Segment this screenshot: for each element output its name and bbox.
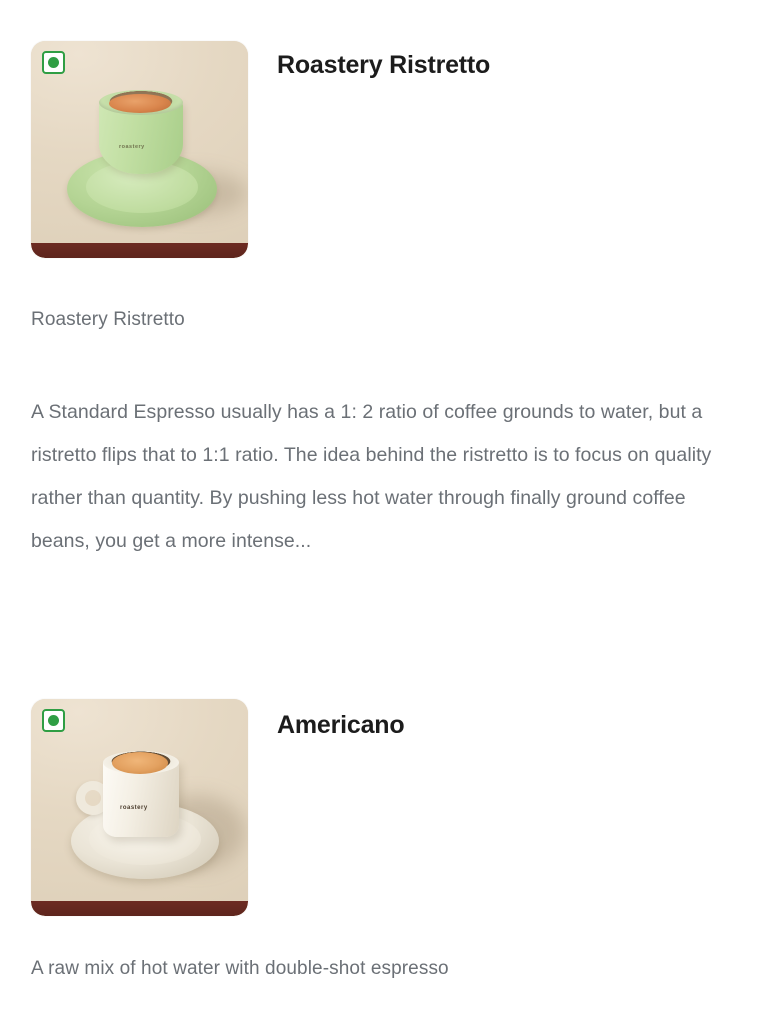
product-item[interactable]: roastery Americano — [31, 699, 743, 916]
product-title: Roastery Ristretto — [277, 41, 490, 78]
crema — [112, 752, 168, 774]
veg-indicator-icon — [42, 709, 65, 732]
crema — [109, 94, 171, 113]
product-thumbnail[interactable]: roastery — [31, 699, 248, 916]
product-item[interactable]: roastery Roastery Ristretto — [31, 41, 743, 258]
product-thumbnail[interactable]: roastery — [31, 41, 248, 258]
product-image: roastery — [31, 41, 248, 258]
product-header: roastery Americano — [31, 699, 743, 916]
product-title: Americano — [277, 699, 404, 738]
product-header: roastery Roastery Ristretto — [31, 41, 743, 258]
product-description: A Standard Espresso usually has a 1: 2 r… — [31, 391, 743, 563]
cup-brand-text: roastery — [120, 805, 148, 811]
product-subtitle: Roastery Ristretto — [31, 309, 185, 331]
cup-brand-text: roastery — [119, 144, 145, 150]
product-subtitle: A raw mix of hot water with double-shot … — [31, 958, 743, 980]
veg-dot-icon — [48, 57, 59, 68]
veg-dot-icon — [48, 715, 59, 726]
veg-indicator-icon — [42, 51, 65, 74]
thumbnail-bottom-strip — [31, 901, 248, 916]
product-image: roastery — [31, 699, 248, 916]
product-list-page: roastery Roastery Ristretto Roastery Ris… — [0, 0, 774, 1024]
thumbnail-bottom-strip — [31, 243, 248, 258]
